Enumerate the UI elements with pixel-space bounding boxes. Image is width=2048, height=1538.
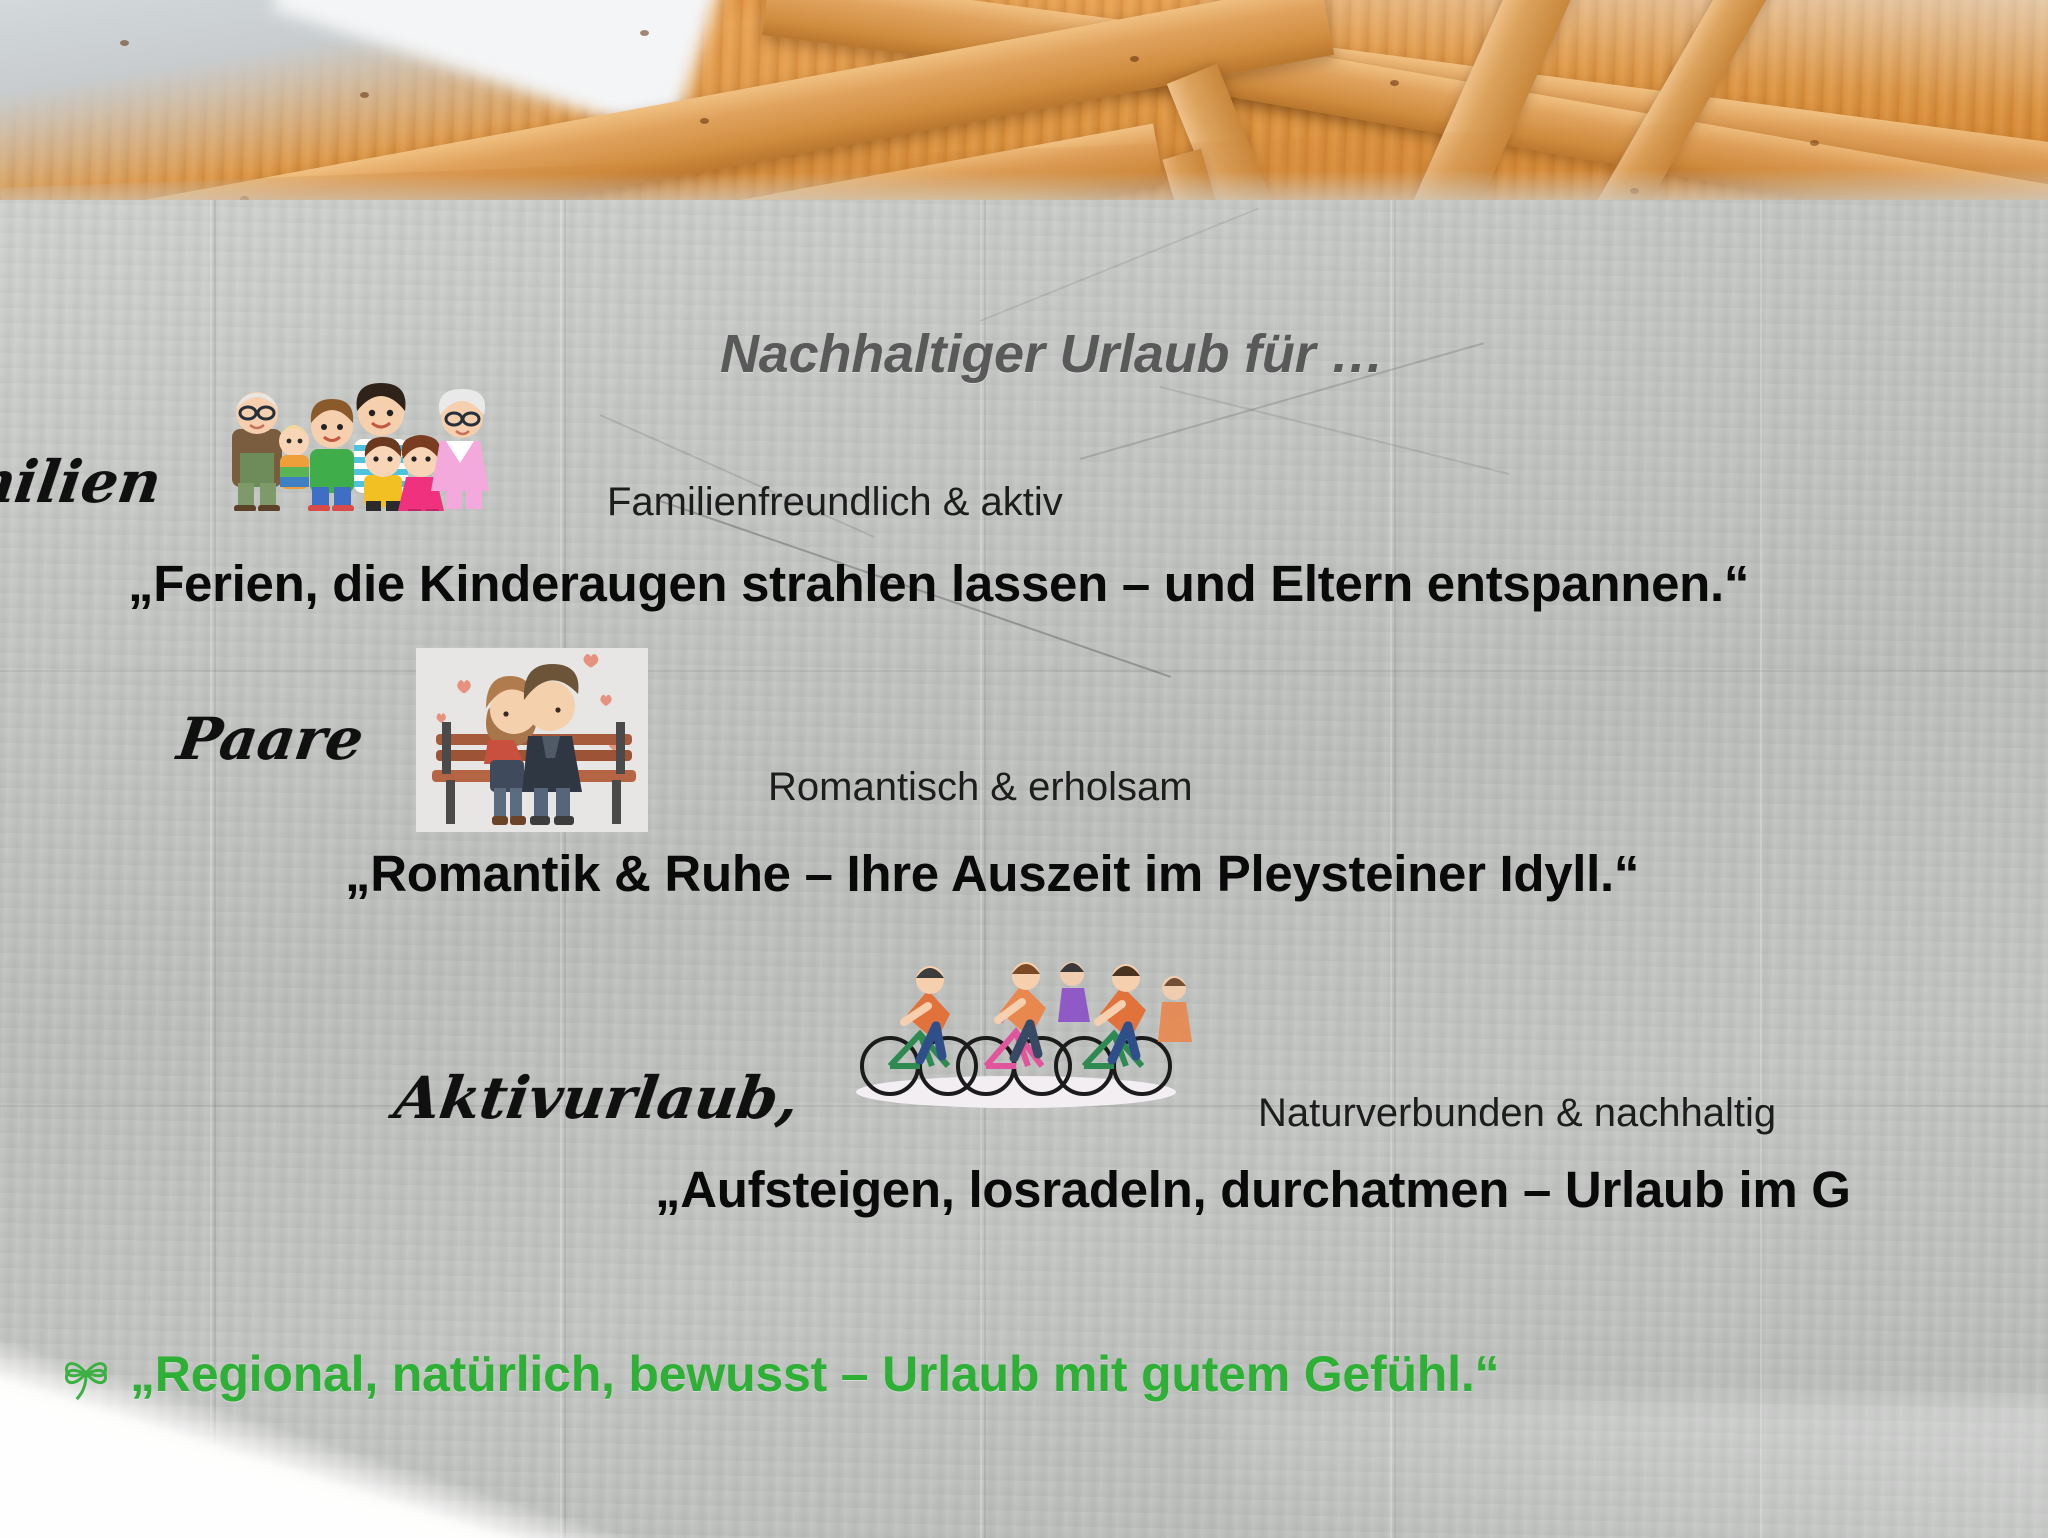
presentation-slide: Nachhaltiger Urlaub für … milien [0, 0, 2048, 1538]
footer-claim: „Regional, natürlich, bewusst – Urlaub m… [60, 1345, 1499, 1403]
section-label-paare: Paare [173, 705, 367, 773]
family-clipart [214, 383, 502, 511]
couple-on-bench-clipart [416, 648, 648, 832]
section-quote-aktivurlaub: „Aufsteigen, losradeln, durchatmen – Url… [655, 1160, 1851, 1219]
section-quote-familien: „Ferien, die Kinderaugen strahlen lassen… [128, 554, 1749, 613]
slide-content: Nachhaltiger Urlaub für … milien [0, 0, 2048, 1538]
page-title: Nachhaltiger Urlaub für … [720, 323, 1384, 385]
section-subtitle-familien: Familienfreundlich & aktiv [607, 480, 1063, 525]
section-label-familien: milien [0, 448, 165, 516]
cyclists-clipart [836, 960, 1196, 1110]
footer-claim-text: „Regional, natürlich, bewusst – Urlaub m… [130, 1345, 1499, 1403]
section-quote-paare: „Romantik & Ruhe – Ihre Auszeit im Pleys… [345, 844, 1639, 903]
four-leaf-clover-icon [60, 1347, 112, 1401]
section-subtitle-paare: Romantisch & erholsam [768, 765, 1193, 810]
section-subtitle-aktivurlaub: Naturverbunden & nachhaltig [1258, 1091, 1776, 1136]
section-label-aktivurlaub: Aktivurlaub, [390, 1064, 803, 1132]
